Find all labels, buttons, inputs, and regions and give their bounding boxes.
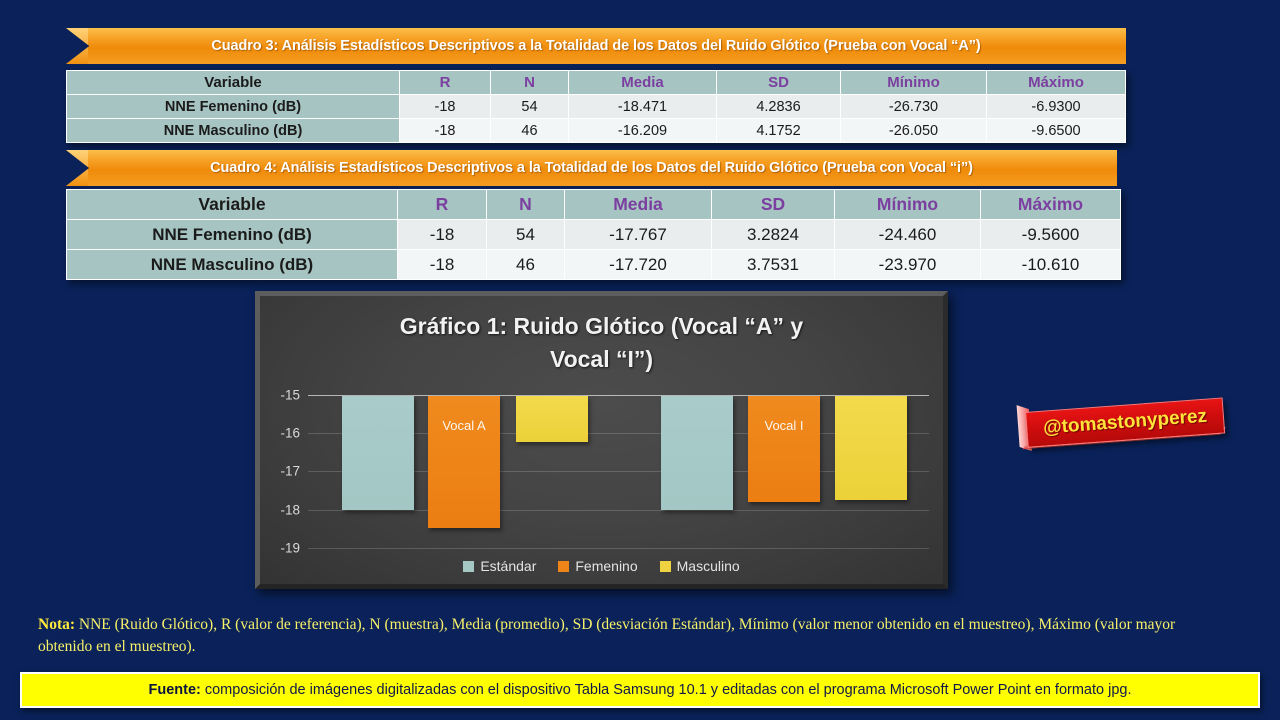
cell-minimo: -24.460: [835, 220, 981, 250]
cell-sd: 3.7531: [712, 250, 835, 280]
chart-legend: Estándar Femenino Masculino: [260, 558, 943, 574]
col-header-r: R: [400, 71, 491, 95]
cell-variable: NNE Masculino (dB): [67, 119, 400, 143]
cell-maximo: -6.9300: [987, 95, 1126, 119]
table-header-row: Variable R N Media SD Mínimo Máximo: [67, 190, 1121, 220]
footer-label: Fuente:: [148, 682, 200, 698]
bar-group-label-vocal-i: Vocal I: [748, 418, 820, 433]
cell-media: -16.209: [569, 119, 717, 143]
gridline-y--19: -19: [308, 548, 929, 549]
chart-title: Gráfico 1: Ruido Glótico (Vocal “A” y Vo…: [260, 310, 943, 377]
cell-sd: 3.2824: [712, 220, 835, 250]
table-row: NNE Femenino (dB) -18 54 -18.471 4.2836 …: [67, 95, 1126, 119]
cell-r: -18: [400, 95, 491, 119]
col-header-minimo: Mínimo: [835, 190, 981, 220]
table-row: NNE Masculino (dB) -18 46 -16.209 4.1752…: [67, 119, 1126, 143]
banner-cuadro-4-title: Cuadro 4: Análisis Estadísticos Descript…: [210, 160, 973, 176]
chart-title-line-2: Vocal “I”): [260, 343, 943, 376]
footer-text: composición de imágenes digitalizadas co…: [201, 682, 1132, 698]
cell-r: -18: [400, 119, 491, 143]
bar-group-label-vocal-a: Vocal A: [428, 418, 500, 433]
note-text: NNE (Ruido Glótico), R (valor de referen…: [38, 616, 1175, 655]
cell-n: 54: [487, 220, 565, 250]
cell-r: -18: [398, 220, 487, 250]
cell-r: -18: [398, 250, 487, 280]
cell-media: -17.767: [565, 220, 712, 250]
cell-n: 46: [491, 119, 569, 143]
col-header-sd: SD: [717, 71, 841, 95]
legend-label-estandar: Estándar: [480, 558, 536, 574]
table-header-row: Variable R N Media SD Mínimo Máximo: [67, 71, 1126, 95]
legend-swatch-femenino: [558, 561, 569, 572]
cell-n: 46: [487, 250, 565, 280]
legend-item-masculino[interactable]: Masculino: [660, 558, 740, 574]
bar-vocal-i-estandar: [661, 396, 733, 510]
banner-cuadro-4: Cuadro 4: Análisis Estadísticos Descript…: [66, 150, 1117, 186]
ytick-label: -17: [280, 464, 300, 479]
source-footer: Fuente: composición de imágenes digitali…: [20, 672, 1260, 708]
cell-variable: NNE Femenino (dB): [67, 95, 400, 119]
legend-item-estandar[interactable]: Estándar: [463, 558, 536, 574]
legend-item-femenino[interactable]: Femenino: [558, 558, 637, 574]
bar-vocal-a-estandar: [342, 396, 414, 510]
table-row: NNE Femenino (dB) -18 54 -17.767 3.2824 …: [67, 220, 1121, 250]
col-header-minimo: Mínimo: [841, 71, 987, 95]
cell-minimo: -26.050: [841, 119, 987, 143]
legend-label-masculino: Masculino: [677, 558, 740, 574]
col-header-r: R: [398, 190, 487, 220]
col-header-variable: Variable: [67, 190, 398, 220]
cell-minimo: -26.730: [841, 95, 987, 119]
legend-label-femenino: Femenino: [575, 558, 637, 574]
watermark-badge: @tomastonyperez: [1017, 393, 1225, 450]
cell-n: 54: [491, 95, 569, 119]
cell-variable: NNE Masculino (dB): [67, 250, 398, 280]
cell-maximo: -10.610: [981, 250, 1121, 280]
col-header-n: N: [487, 190, 565, 220]
ytick-label: -18: [280, 503, 300, 518]
col-header-maximo: Máximo: [987, 71, 1126, 95]
bar-vocal-i-femenino: Vocal I: [748, 396, 820, 502]
badge-front-face: @tomastonyperez: [1025, 397, 1225, 447]
legend-swatch-masculino: [660, 561, 671, 572]
chart-title-line-1: Gráfico 1: Ruido Glótico (Vocal “A” y: [260, 310, 943, 343]
note-block: Nota: NNE (Ruido Glótico), R (valor de r…: [38, 614, 1223, 659]
banner-cuadro-3-title: Cuadro 3: Análisis Estadísticos Descript…: [211, 38, 980, 54]
cell-sd: 4.1752: [717, 119, 841, 143]
gridline-y--18: -18: [308, 510, 929, 511]
note-label: Nota:: [38, 616, 75, 633]
bar-vocal-a-masculino: [516, 396, 588, 442]
cell-minimo: -23.970: [835, 250, 981, 280]
legend-swatch-estandar: [463, 561, 474, 572]
cell-maximo: -9.5600: [981, 220, 1121, 250]
table-cuadro-4: Variable R N Media SD Mínimo Máximo NNE …: [66, 189, 1121, 280]
cell-media: -17.720: [565, 250, 712, 280]
table-cuadro-3: Variable R N Media SD Mínimo Máximo NNE …: [66, 70, 1126, 143]
col-header-media: Media: [565, 190, 712, 220]
cell-media: -18.471: [569, 95, 717, 119]
ytick-label: -19: [280, 541, 300, 556]
col-header-sd: SD: [712, 190, 835, 220]
col-header-media: Media: [569, 71, 717, 95]
col-header-n: N: [491, 71, 569, 95]
bar-vocal-a-femenino: Vocal A: [428, 396, 500, 528]
ytick-label: -16: [280, 426, 300, 441]
col-header-variable: Variable: [67, 71, 400, 95]
chart-grafico-1: Gráfico 1: Ruido Glótico (Vocal “A” y Vo…: [255, 291, 948, 589]
col-header-maximo: Máximo: [981, 190, 1121, 220]
banner-cuadro-3: Cuadro 3: Análisis Estadísticos Descript…: [66, 28, 1126, 64]
table-row: NNE Masculino (dB) -18 46 -17.720 3.7531…: [67, 250, 1121, 280]
badge-handle-text: @tomastonyperez: [1042, 406, 1207, 440]
bar-vocal-i-masculino: [835, 396, 907, 500]
ytick-label: -15: [280, 388, 300, 403]
chart-plot-area: -15 -16 -17 -18 -19 Vocal A Vocal I: [308, 395, 929, 548]
footer-content: Fuente: composición de imágenes digitali…: [148, 682, 1131, 698]
cell-sd: 4.2836: [717, 95, 841, 119]
cell-maximo: -9.6500: [987, 119, 1126, 143]
cell-variable: NNE Femenino (dB): [67, 220, 398, 250]
